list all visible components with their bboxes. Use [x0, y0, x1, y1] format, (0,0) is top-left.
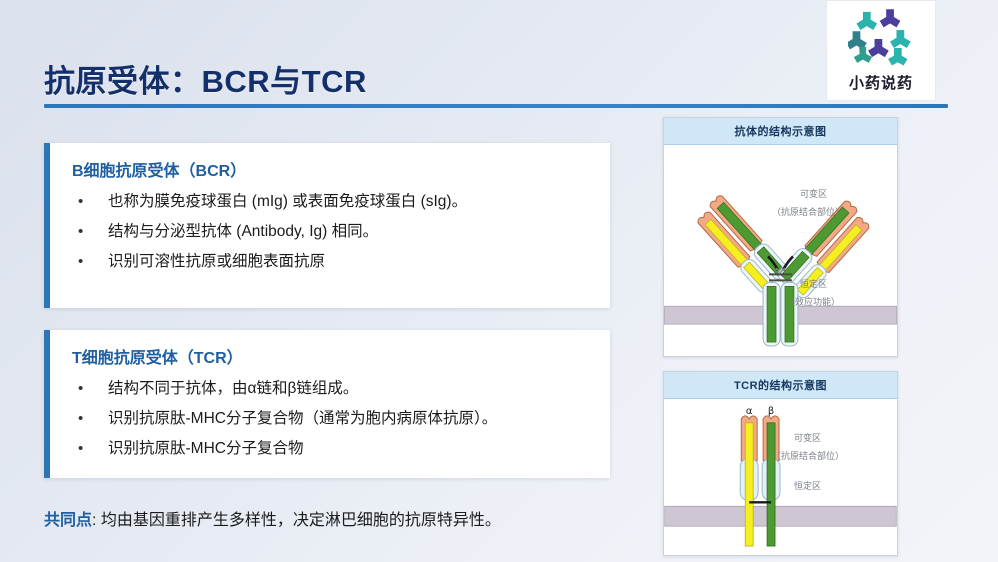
list-item: 识别可溶性抗原或细胞表面抗原	[72, 247, 600, 277]
title-divider	[44, 104, 948, 108]
list-item: 结构与分泌型抗体 (Antibody, Ig) 相同。	[72, 217, 600, 247]
card-tcr: T细胞抗原受体（TCR） 结构不同于抗体，由α链和β链组成。 识别抗原肽-MHC…	[44, 330, 610, 478]
page-title: 抗原受体：BCR与TCR	[44, 56, 367, 101]
figure-antibody-title: 抗体的结构示意图	[664, 118, 897, 145]
slide-canvas: 小药说药 抗原受体：BCR与TCR B细胞抗原受体（BCR） 也称为膜免疫球蛋白…	[0, 0, 998, 562]
list-item: 也称为膜免疫球蛋白 (mIg) 或表面免疫球蛋白 (sIg)。	[72, 187, 600, 217]
tcr-structure-diagram: α β	[664, 399, 897, 555]
antibody-structure-diagram	[664, 145, 897, 356]
label-effector-function: （效应功能）	[786, 295, 840, 308]
figure-tcr-panel: TCR的结构示意图 α β	[663, 371, 898, 556]
label-constant-region: 恒定区	[800, 277, 827, 290]
summary-text: 均由基因重排产生多样性，决定淋巴细胞的抗原特异性。	[101, 512, 501, 529]
summary-line: 共同点: 均由基因重排产生多样性，决定淋巴细胞的抗原特异性。	[44, 506, 501, 530]
list-item: 识别抗原肽-MHC分子复合物（通常为胞内病原体抗原）。	[72, 404, 600, 434]
brand-logo: 小药说药	[826, 0, 936, 101]
label-variable-region: 可变区	[800, 187, 827, 200]
card-bcr-bullet-list: 也称为膜免疫球蛋白 (mIg) 或表面免疫球蛋白 (sIg)。 结构与分泌型抗体…	[72, 187, 600, 277]
summary-separator: :	[92, 512, 101, 529]
label-antigen-binding-site: （抗原结合部位）	[772, 449, 844, 462]
label-variable-region: 可变区	[794, 431, 821, 444]
summary-label: 共同点	[44, 512, 92, 529]
card-tcr-bullet-list: 结构不同于抗体，由α链和β链组成。 识别抗原肽-MHC分子复合物（通常为胞内病原…	[72, 374, 600, 464]
figure-antibody-panel: 抗体的结构示意图	[663, 117, 898, 357]
list-item: 结构不同于抗体，由α链和β链组成。	[72, 374, 600, 404]
tcr-alpha-chain-label: α	[746, 406, 753, 417]
label-constant-region: 恒定区	[794, 479, 821, 492]
card-tcr-heading: T细胞抗原受体（TCR）	[72, 344, 243, 368]
tcr-beta-chain-label: β	[768, 406, 774, 417]
label-antigen-binding-site: （抗原结合部位）	[772, 205, 844, 218]
list-item: 识别抗原肽-MHC分子复合物	[72, 434, 600, 464]
card-bcr: B细胞抗原受体（BCR） 也称为膜免疫球蛋白 (mIg) 或表面免疫球蛋白 (s…	[44, 143, 610, 308]
card-bcr-heading: B细胞抗原受体（BCR）	[72, 157, 246, 181]
figure-antibody-body: 可变区 （抗原结合部位） 恒定区 （效应功能）	[664, 145, 897, 356]
figure-tcr-body: α β 可变区 （抗原结合部位） 恒定区	[664, 399, 897, 555]
figure-tcr-title: TCR的结构示意图	[664, 372, 897, 399]
molecule-logo-icon	[848, 8, 914, 70]
logo-wordmark: 小药说药	[849, 72, 913, 93]
